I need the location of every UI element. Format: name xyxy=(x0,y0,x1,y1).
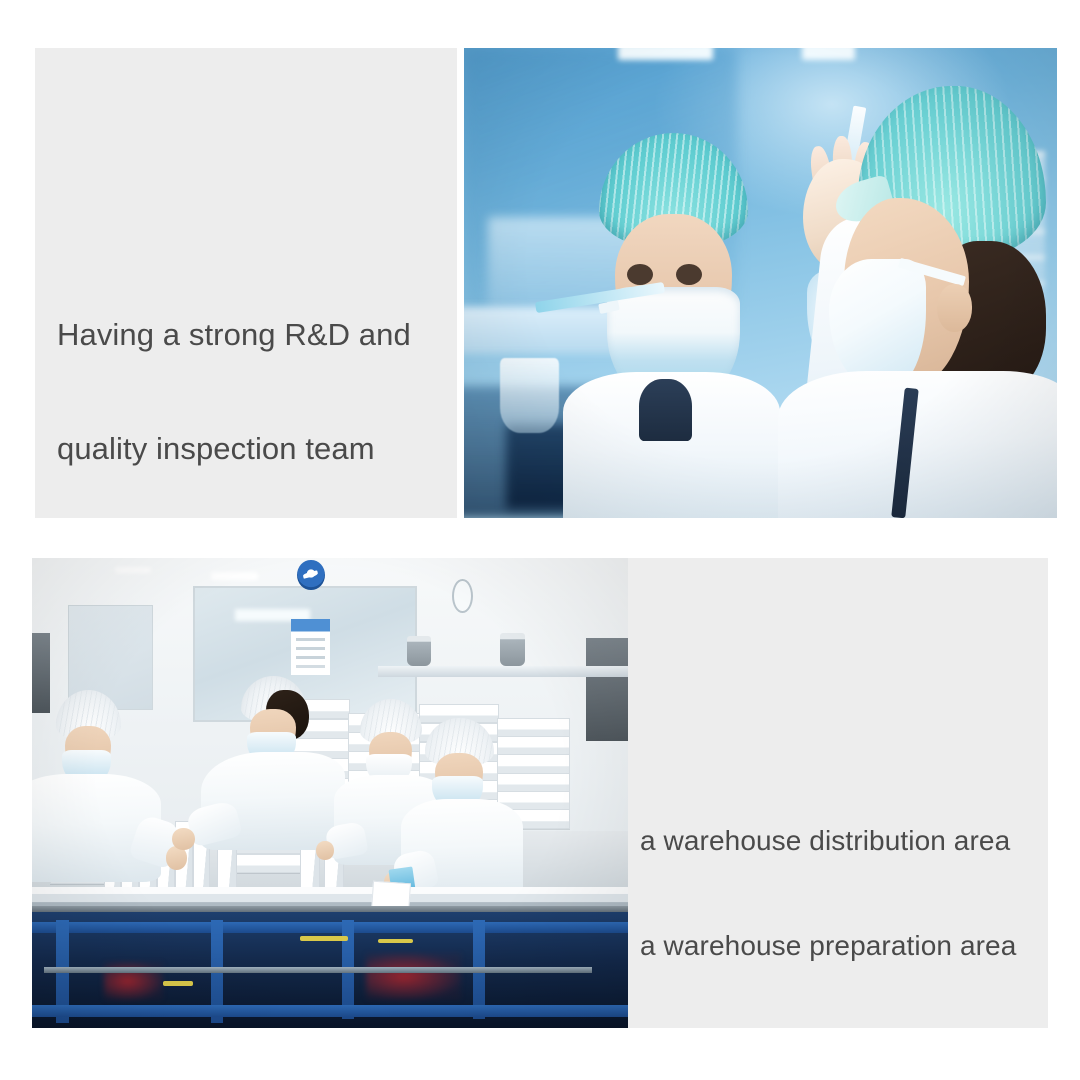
wall-panel xyxy=(586,638,628,741)
blue-circular-sign-icon xyxy=(297,560,324,590)
back-counter xyxy=(378,666,628,677)
top-caption-line-2: quality inspection team xyxy=(57,430,411,468)
hand xyxy=(316,841,334,860)
yellow-marker xyxy=(163,981,193,986)
ear xyxy=(937,284,971,332)
lab-ceiling-light xyxy=(618,48,713,60)
bottom-caption-line-1: a warehouse distribution area xyxy=(640,823,1016,858)
lab-scene xyxy=(464,48,1057,518)
lab-technician-profile xyxy=(772,86,1057,518)
face-mask-icon xyxy=(829,259,926,389)
blue-table-frame xyxy=(32,1005,628,1017)
lab-glassware xyxy=(500,358,559,433)
wall-notice-board xyxy=(291,619,330,675)
warehouse-worker xyxy=(425,718,494,864)
bottom-caption-line-2: a warehouse preparation area xyxy=(640,928,1016,963)
yellow-marker xyxy=(378,939,414,944)
showcase-canvas: Having a strong R&D and quality inspecti… xyxy=(0,0,1080,1080)
eye xyxy=(627,264,653,285)
eye xyxy=(676,264,702,285)
ceiling-light xyxy=(115,567,151,573)
lab-ceiling-light xyxy=(802,48,855,60)
red-crate xyxy=(366,953,461,1000)
warehouse-packing-photo xyxy=(32,558,628,1028)
collar xyxy=(639,379,691,441)
top-caption-line-1: Having a strong R&D and xyxy=(57,316,411,354)
top-caption: Having a strong R&D and quality inspecti… xyxy=(57,240,411,544)
blue-table-frame xyxy=(32,922,628,932)
warehouse-worker xyxy=(241,676,307,817)
steel-container xyxy=(500,633,525,666)
yellow-marker xyxy=(300,936,348,941)
hand xyxy=(172,828,194,851)
wall-clock-icon xyxy=(452,579,473,613)
warehouse-scene xyxy=(32,558,628,1028)
steel-container xyxy=(407,636,431,667)
ceiling-light xyxy=(211,572,259,580)
warehouse-worker xyxy=(56,690,122,840)
wall-panel xyxy=(32,633,50,713)
bottom-caption: a warehouse distribution area a warehous… xyxy=(640,753,1016,1033)
lab-technician-front xyxy=(571,133,773,518)
lab-inspection-photo xyxy=(464,48,1057,518)
lower-shelf-bar xyxy=(44,967,592,973)
